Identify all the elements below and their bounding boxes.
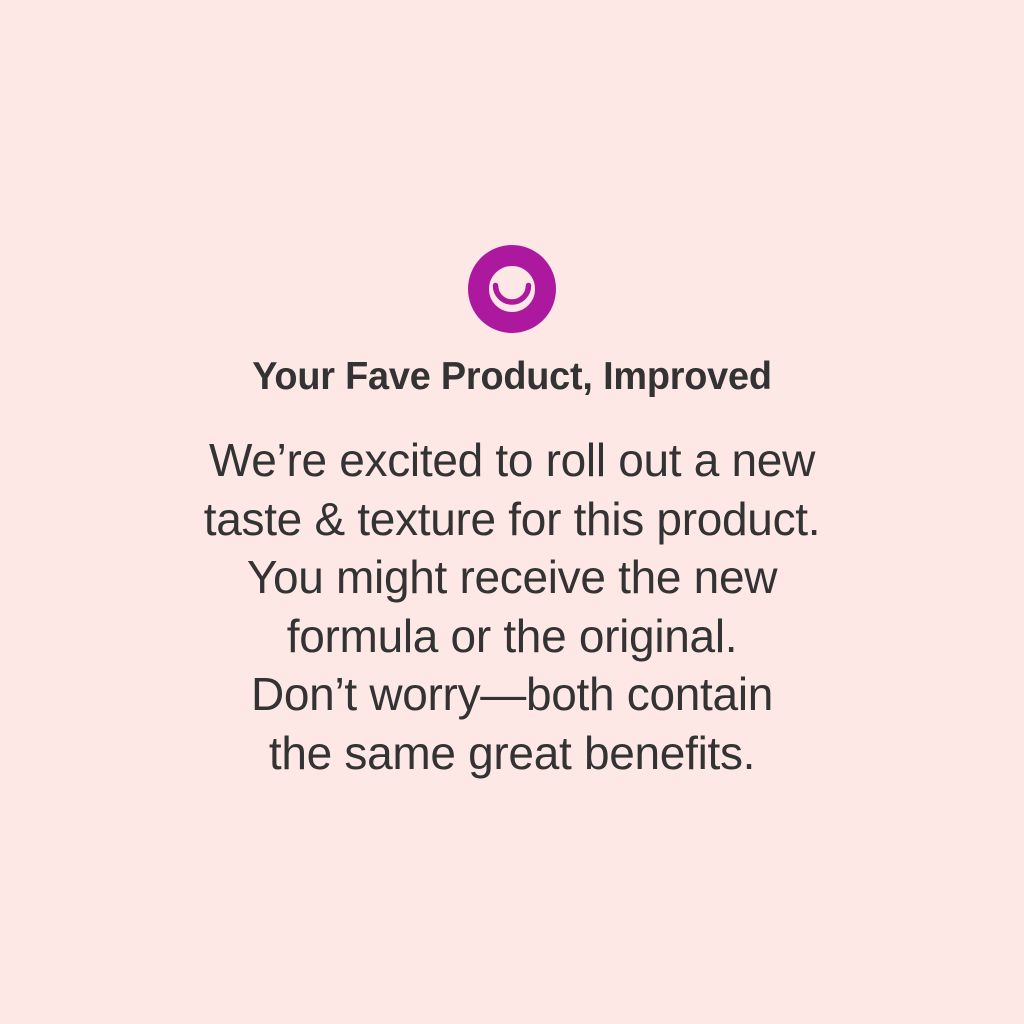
body-line: Don’t worry—both contain (0, 665, 1024, 724)
body-line: the same great benefits. (0, 724, 1024, 783)
logo-ring (479, 256, 546, 323)
smiley-ring-icon (468, 245, 556, 333)
announcement-card: Your Fave Product, Improved We’re excite… (0, 0, 1024, 1024)
body-line: formula or the original. (0, 607, 1024, 666)
body-line: taste & texture for this product. (0, 490, 1024, 549)
logo-smile-arc (496, 286, 529, 303)
page-title: Your Fave Product, Improved (15, 355, 1008, 399)
body-line: You might receive the new (0, 548, 1024, 607)
body-line: We’re excited to roll out a new (0, 431, 1024, 490)
body-copy: We’re excited to roll out a new taste & … (0, 431, 1024, 782)
